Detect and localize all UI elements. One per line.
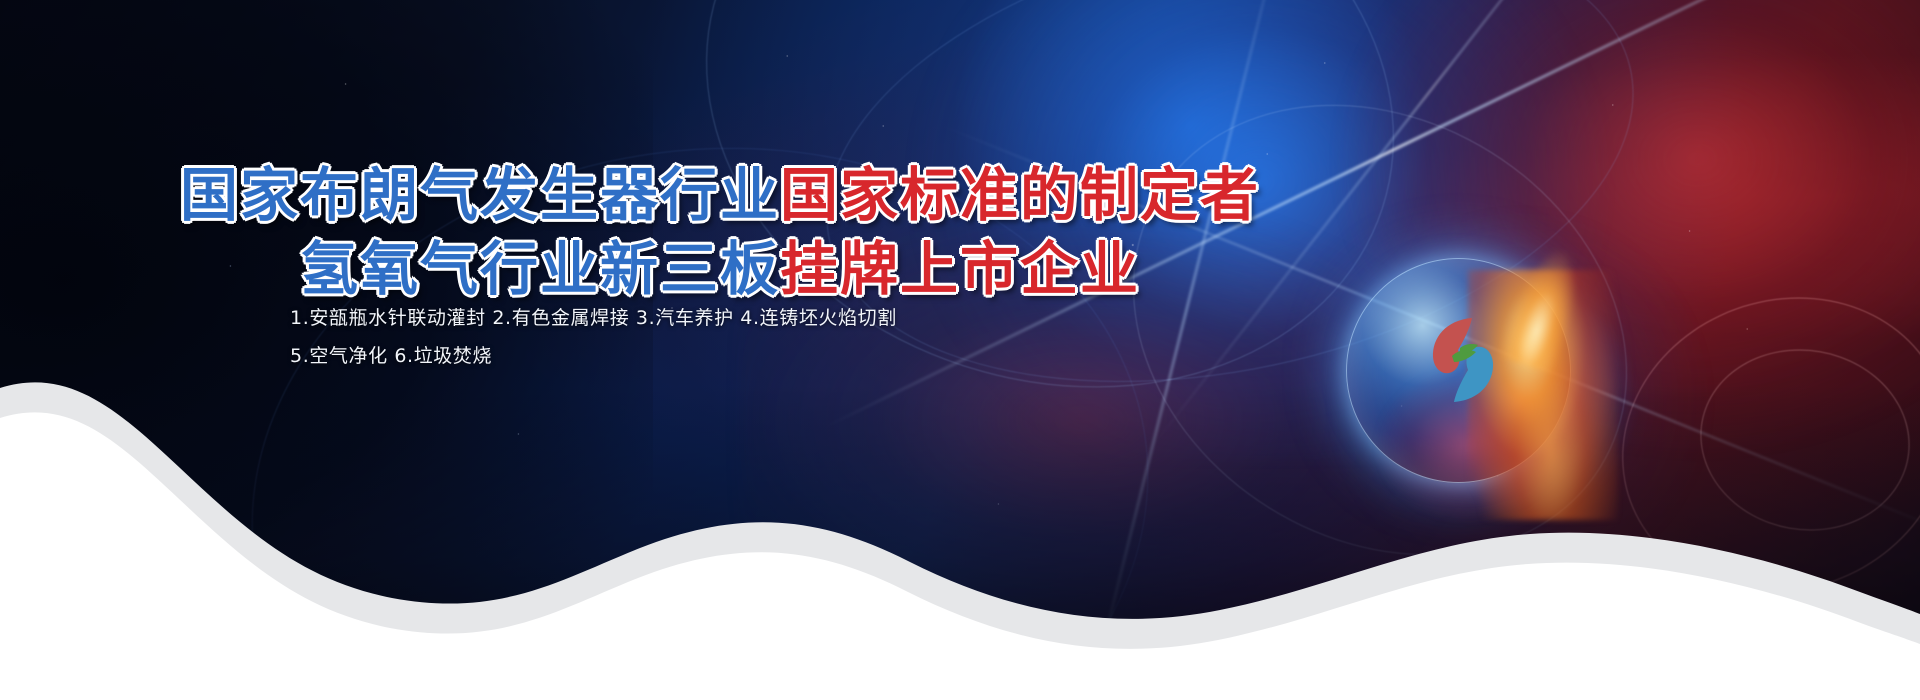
headline-line-1-blue: 国家布朗气发生器行业 <box>180 161 780 229</box>
wave-decoration <box>0 280 1920 700</box>
headline-line-1-red: 国家标准的制定者 <box>780 161 1260 229</box>
headline-line-1: 国家布朗气发生器行业国家标准的制定者 <box>0 158 1440 232</box>
hero-banner: 国家布朗气发生器行业国家标准的制定者 氢氧气行业新三板挂牌上市企业 1.安瓿瓶水… <box>0 0 1920 700</box>
